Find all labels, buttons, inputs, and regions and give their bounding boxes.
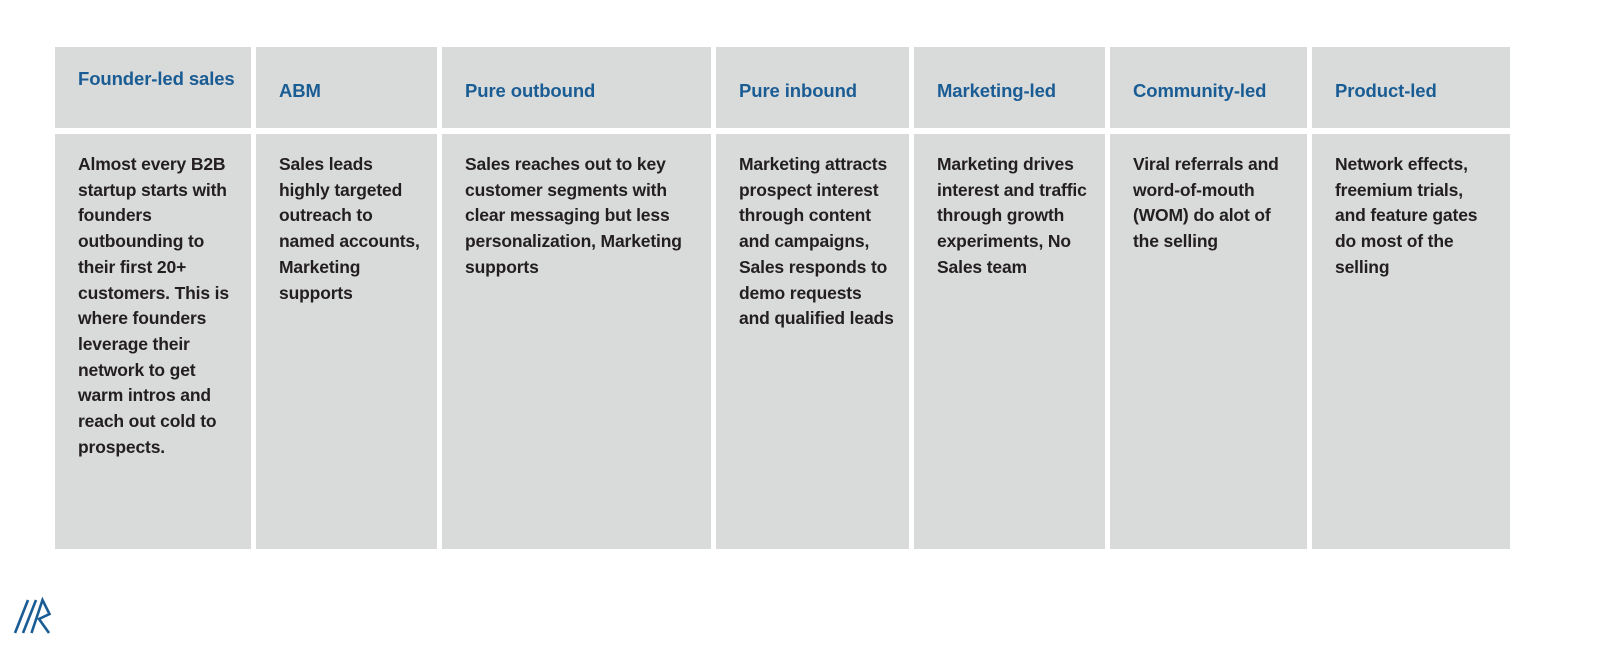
table-column-pure-outbound: Pure outbound Sales reaches out to key c…: [442, 47, 711, 549]
column-body-text: Viral referrals and word-of-mouth (WOM) …: [1110, 134, 1307, 549]
brand-logo-icon: [12, 592, 56, 640]
column-header: Pure outbound: [442, 47, 711, 128]
column-header: Community-led: [1110, 47, 1307, 128]
column-body-text: Marketing attracts prospect interest thr…: [716, 134, 909, 549]
slide-canvas: Founder-led sales Almost every B2B start…: [0, 0, 1608, 658]
table-column-marketing-led: Marketing-led Marketing drives interest …: [914, 47, 1105, 549]
table-column-product-led: Product-led Network effects, freemium tr…: [1312, 47, 1510, 549]
table-column-founder-led-sales: Founder-led sales Almost every B2B start…: [55, 47, 251, 549]
column-body-text: Network effects, freemium trials, and fe…: [1312, 134, 1510, 549]
table-column-pure-inbound: Pure inbound Marketing attracts prospect…: [716, 47, 909, 549]
column-body-text: Marketing drives interest and traffic th…: [914, 134, 1105, 549]
column-header: Product-led: [1312, 47, 1510, 128]
table-column-abm: ABM Sales leads highly targeted outreach…: [256, 47, 437, 549]
column-header: Marketing-led: [914, 47, 1105, 128]
column-header: Founder-led sales: [55, 47, 251, 128]
column-header: Pure inbound: [716, 47, 909, 128]
column-body-text: Sales reaches out to key customer segmen…: [442, 134, 711, 549]
column-header: ABM: [256, 47, 437, 128]
column-body-text: Sales leads highly targeted outreach to …: [256, 134, 437, 549]
gtm-motions-table: Founder-led sales Almost every B2B start…: [55, 47, 1516, 549]
table-column-community-led: Community-led Viral referrals and word-o…: [1110, 47, 1307, 549]
column-body-text: Almost every B2B startup starts with fou…: [55, 134, 251, 549]
